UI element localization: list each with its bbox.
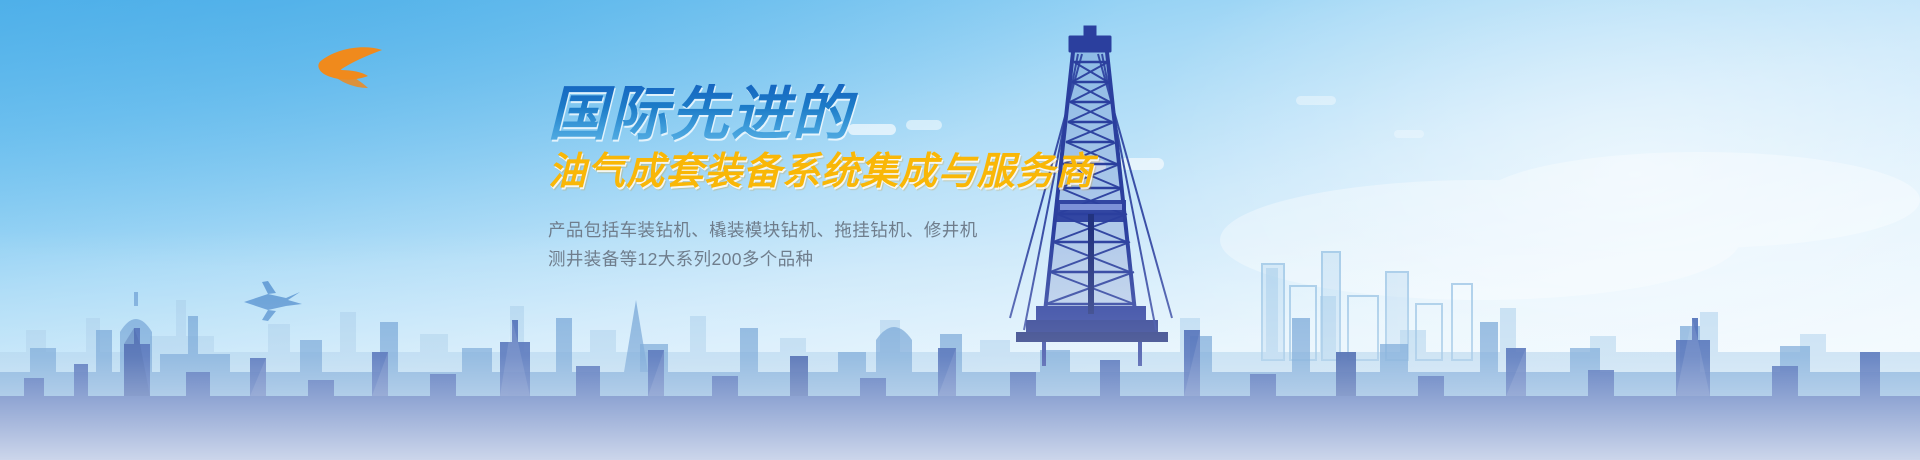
- banner-copy: 国际先进的 油气成套装备系统集成与服务商 产品包括车装钻机、橇装模块钻机、拖挂钻…: [548, 84, 1248, 273]
- banner-subheadline: 油气成套装备系统集成与服务商: [548, 152, 1248, 194]
- hero-banner: 国际先进的 油气成套装备系统集成与服务商 产品包括车装钻机、橇装模块钻机、拖挂钻…: [0, 0, 1920, 460]
- banner-description-line-1: 产品包括车装钻机、橇装模块钻机、拖挂钻机、修井机: [548, 216, 1248, 244]
- banner-headline: 国际先进的: [548, 84, 1248, 145]
- banner-description: 产品包括车装钻机、橇装模块钻机、拖挂钻机、修井机 测井装备等12大系列200多个…: [548, 216, 1248, 273]
- banner-description-line-2: 测井装备等12大系列200多个品种: [548, 245, 1248, 273]
